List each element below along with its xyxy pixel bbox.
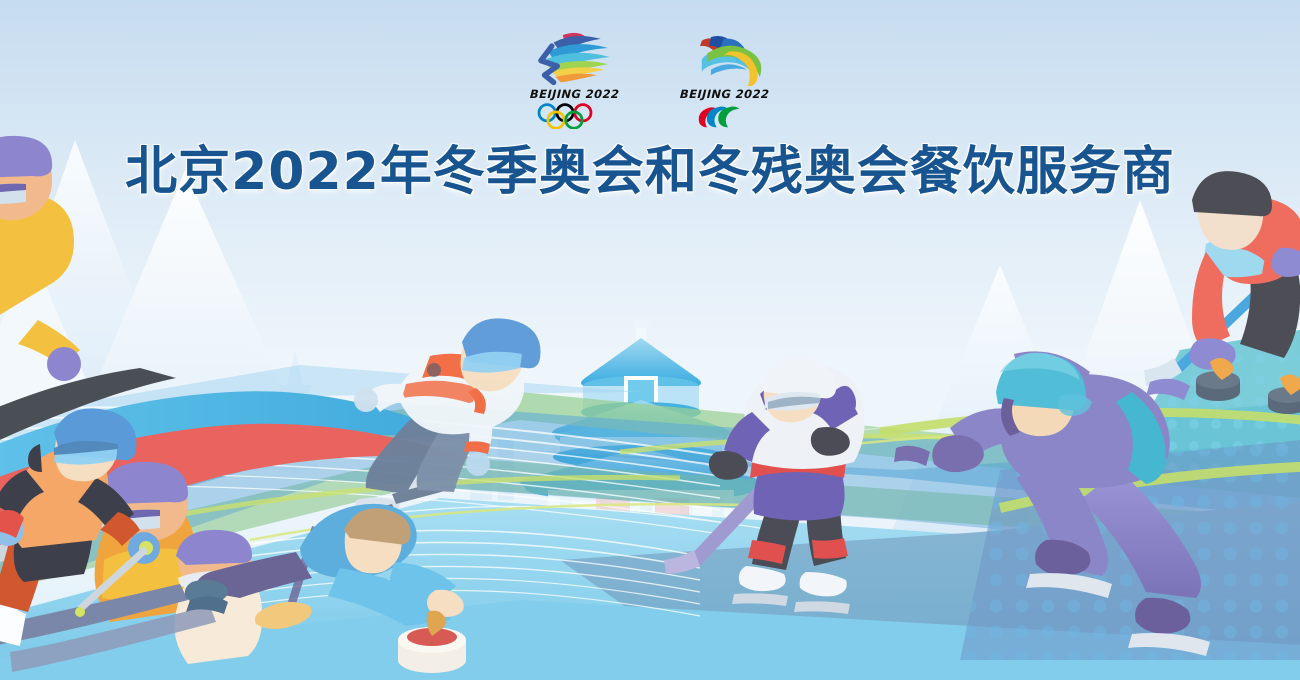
olympic-rings-icon <box>526 103 624 129</box>
olympic-wordmark: BEIJING 2022 <box>530 87 620 101</box>
beijing-2022-olympic-emblem-icon <box>521 28 630 86</box>
logo-row: BEIJING 2022 B <box>0 28 1300 138</box>
beijing-2022-paralympic-logo: BEIJING 2022 <box>671 28 779 129</box>
curling-stone-yellow-2 <box>1268 375 1300 415</box>
beijing-2022-catering-banner: BEIJING 2022 B <box>0 0 1300 680</box>
athlete-speed-skater <box>894 351 1210 656</box>
beijing-2022-paralympic-emblem-icon <box>671 28 780 86</box>
athlete-curler-sweeping <box>1144 171 1300 414</box>
beijing-2022-olympic-logo: BEIJING 2022 <box>521 28 629 129</box>
athlete-ice-hockey-player <box>664 356 865 614</box>
paralympic-agitos-icon <box>676 103 774 129</box>
paralympic-wordmark: BEIJING 2022 <box>680 87 770 101</box>
page-title: 北京2022年冬季奥会和冬残奥会餐饮服务商 <box>0 142 1300 203</box>
